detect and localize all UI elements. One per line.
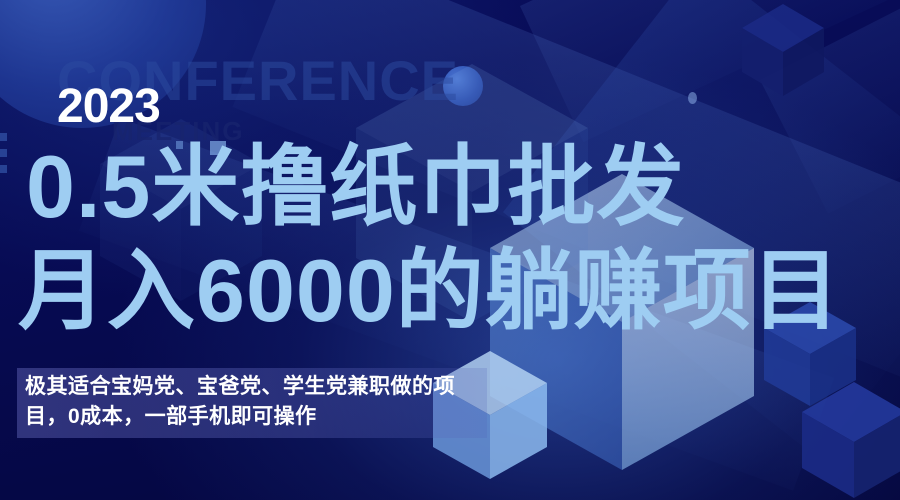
pixel-square-decoration — [0, 133, 7, 141]
pixel-square-decoration — [0, 165, 7, 173]
circle-decoration — [688, 92, 697, 104]
pixel-square-decoration — [0, 149, 7, 157]
headline-line-1: 0.5米撸纸巾批发 — [26, 143, 685, 231]
isometric-cube-decoration — [740, 2, 826, 98]
poster-canvas: CONFERENCE MEETING 2023 0.5米撸纸巾批发 月入6000… — [0, 0, 900, 500]
headline-line-2: 月入6000的躺赚项目 — [18, 247, 841, 335]
subtitle-description: 极其适合宝妈党、宝爸党、学生党兼职做的项目，0成本，一部手机即可操作 — [17, 368, 487, 438]
year-label: 2023 — [57, 83, 160, 131]
